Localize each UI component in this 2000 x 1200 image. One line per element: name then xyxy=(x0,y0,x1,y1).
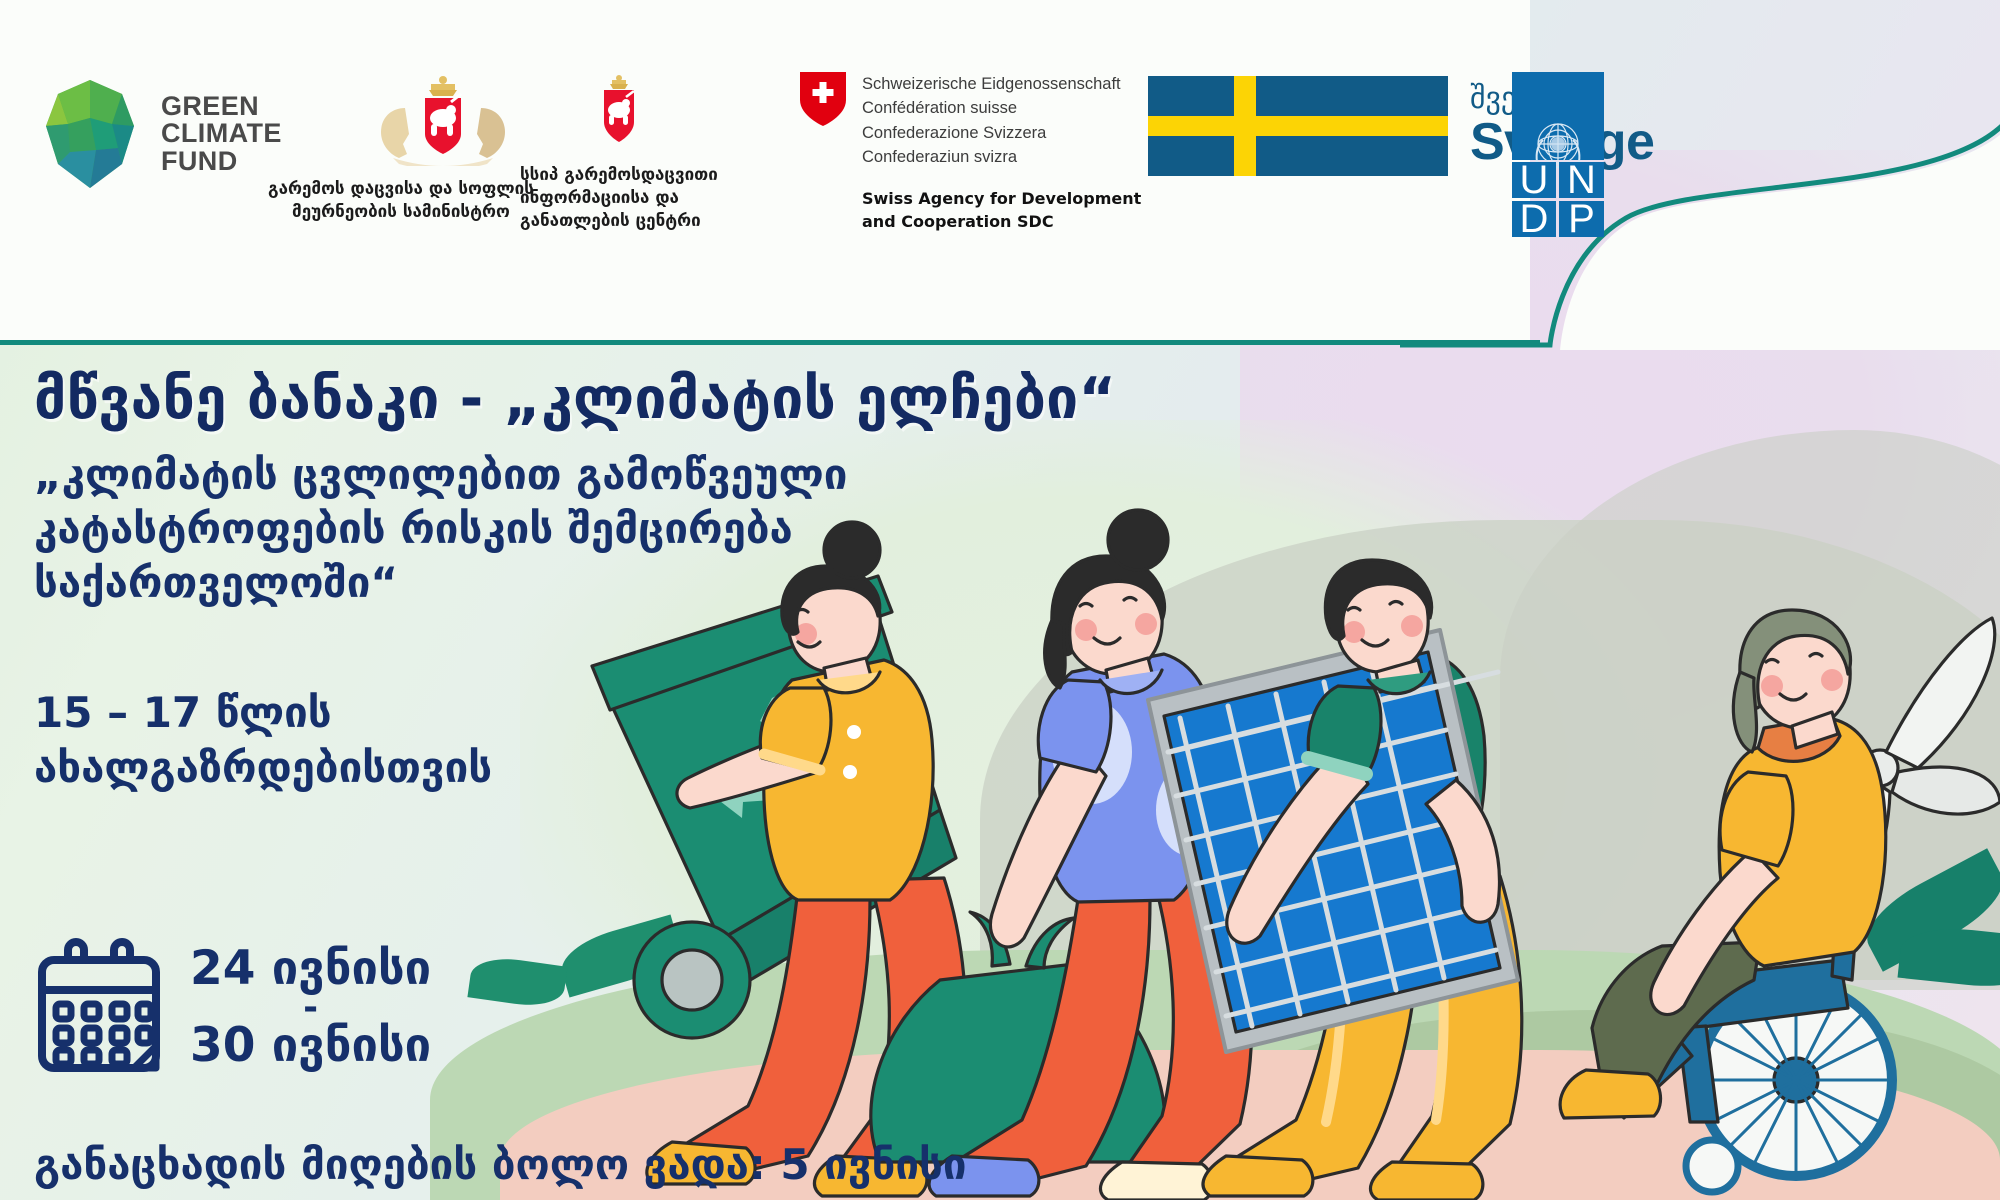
gcf-line-3: FUND xyxy=(161,148,282,176)
undp-letter-p: P xyxy=(1559,201,1604,237)
sdc-agency-name: Swiss Agency for Development and Coopera… xyxy=(862,187,1141,233)
swiss-line-1: Schweizerische Eidgenossenschaft xyxy=(862,72,1141,96)
logo-ministry-of-environment: გარემოს დაცვისა და სოფლის მეურნეობის სამ… xyxy=(268,74,534,224)
gcf-line-1: GREEN xyxy=(161,93,282,121)
un-emblem-panel xyxy=(1512,72,1604,160)
ministry-name: გარემოს დაცვისა და სოფლის მეურნეობის სამ… xyxy=(268,178,534,224)
swiss-line-2: Confédération suisse xyxy=(862,96,1141,120)
poster-root: GREEN CLIMATE FUND xyxy=(0,0,2000,1200)
date-separator: - xyxy=(190,997,431,1019)
date-range: 24 ივნისი - 30 ივნისი xyxy=(190,942,431,1073)
eiec-line-1: სსიპ გარემოსდაცვითი xyxy=(520,164,718,187)
logo-swiss-sdc: Schweizerische Eidgenossenschaft Confédé… xyxy=(800,72,1141,233)
undp-letter-u: U xyxy=(1512,162,1556,198)
header-divider-line xyxy=(0,340,1540,345)
page-title: მწვანე ბანაკი - „კლიმატის ელჩები“ xyxy=(34,368,1434,432)
logo-environmental-info-education-centre: სსიპ გარემოსდაცვითი ინფორმაციისა და განა… xyxy=(520,74,718,233)
gcf-line-2: CLIMATE xyxy=(161,120,282,148)
logo-undp: U N D P xyxy=(1512,72,1604,237)
age-line-1: 15 – 17 წლის xyxy=(34,686,1434,741)
eiec-line-2: ინფორმაციისა და xyxy=(520,187,718,210)
georgia-small-crest-icon xyxy=(592,74,646,154)
undp-letter-d: D xyxy=(1512,201,1556,237)
age-requirement: 15 – 17 წლის ახალგაზრდებისთვის xyxy=(34,686,1434,795)
sweden-flag-icon xyxy=(1148,76,1448,176)
event-dates: 24 ივნისი - 30 ივნისი xyxy=(34,938,431,1078)
poster-copy: მწვანე ბანაკი - „კლიმატის ელჩები“ „კლიმა… xyxy=(34,368,1434,796)
swiss-line-4: Confederaziun svizra xyxy=(862,145,1141,169)
undp-mark: U N D P xyxy=(1512,72,1604,237)
green-climate-fund-icon xyxy=(38,78,143,190)
eiec-name: სსიპ გარემოსდაცვითი ინფორმაციისა და განა… xyxy=(520,164,718,233)
green-climate-fund-wordmark: GREEN CLIMATE FUND xyxy=(161,93,282,176)
sdc-bold-line-1: Swiss Agency for Development xyxy=(862,187,1141,210)
swiss-names: Schweizerische Eidgenossenschaft Confédé… xyxy=(862,72,1141,169)
eiec-line-3: განათლების ცენტრი xyxy=(520,210,718,233)
application-deadline: განაცხადის მიღების ბოლო ვადა: 5 ივნისი xyxy=(34,1140,967,1189)
calendar-icon xyxy=(34,938,164,1078)
undp-letter-n: N xyxy=(1559,162,1604,198)
logo-green-climate-fund: GREEN CLIMATE FUND xyxy=(38,78,282,190)
ministry-line-2: მეურნეობის სამინისტრო xyxy=(268,201,534,224)
subtitle-line-2: კატასტროფების რისკის შემცირება xyxy=(34,502,1034,556)
date-end: 30 ივნისი xyxy=(190,1019,431,1074)
georgia-coat-of-arms-icon xyxy=(359,74,443,166)
age-line-2: ახალგაზრდებისთვის xyxy=(34,741,1434,796)
swiss-shield-icon xyxy=(800,72,846,126)
ministry-line-1: გარემოს დაცვისა და სოფლის xyxy=(268,178,534,201)
project-subtitle: „კლიმატის ცვლილებით გამოწვეული კატასტროფ… xyxy=(34,448,1034,611)
sdc-bold-line-2: and Cooperation SDC xyxy=(862,210,1141,233)
swiss-line-3: Confederazione Svizzera xyxy=(862,121,1141,145)
partner-logo-strip: GREEN CLIMATE FUND xyxy=(0,0,1540,340)
subtitle-line-1: „კლიმატის ცვლილებით გამოწვეული xyxy=(34,448,1034,502)
subtitle-line-3: საქართველოში“ xyxy=(34,556,1034,610)
